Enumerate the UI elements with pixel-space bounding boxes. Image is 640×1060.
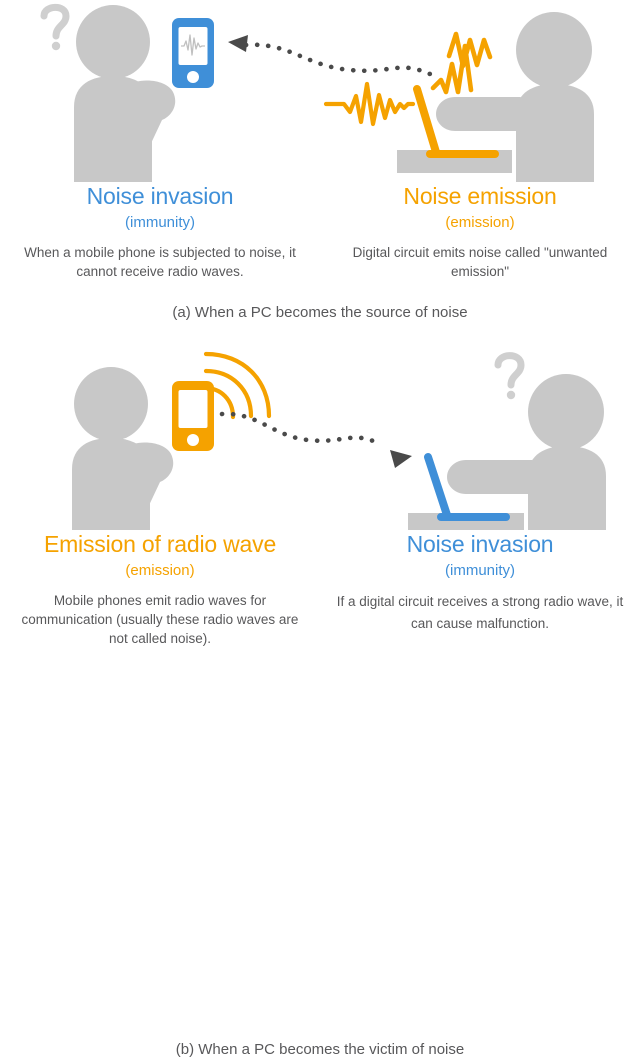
torso (528, 446, 606, 530)
person-at-laptop-b (408, 374, 606, 530)
question-mark-icon-a (44, 7, 66, 36)
caption-title: Noise emission (336, 182, 624, 210)
person-holding-phone-a (74, 5, 175, 182)
arrow-head (390, 450, 412, 468)
lightning-noise-icon (433, 34, 490, 92)
panel-a: Noise invasion (immunity) When a mobile … (0, 0, 640, 340)
torso (516, 84, 594, 182)
panel-b-label: (b) When a PC becomes the victim of nois… (0, 1040, 640, 1060)
head (528, 374, 604, 450)
caption-body: If a digital circuit receives a strong r… (336, 591, 624, 635)
noise-path-arrow-a (228, 35, 430, 74)
caption-title: Emission of radio wave (16, 530, 304, 558)
panel-b-captions: Emission of radio wave (emission) Mobile… (0, 530, 640, 648)
panel-a-captions: Noise invasion (immunity) When a mobile … (0, 182, 640, 281)
caption-subtitle: (immunity) (16, 212, 304, 234)
caption-subtitle: (emission) (16, 560, 304, 582)
head (76, 5, 150, 79)
caption-title: Noise invasion (16, 182, 304, 210)
noise-waveform-horizontal (326, 84, 413, 124)
caption-body: When a mobile phone is subjected to nois… (16, 243, 304, 281)
question-mark-icon-b (498, 356, 521, 385)
caption-noise-emission-a: Noise emission (emission) Digital circui… (320, 182, 640, 281)
arrow-head (228, 35, 248, 52)
caption-noise-invasion-b: Noise invasion (immunity) If a digital c… (320, 530, 640, 648)
head (516, 12, 592, 88)
panel-b: Emission of radio wave (emission) Mobile… (0, 340, 640, 722)
panel-a-illustration (0, 0, 640, 182)
caption-body: Digital circuit emits noise called "unwa… (336, 243, 624, 281)
head (74, 367, 148, 441)
panel-b-illustration (0, 340, 640, 530)
mobile-phone-orange (172, 381, 214, 451)
noise-path-arrow-b (222, 414, 412, 468)
radio-wave-arcs-icon (205, 354, 269, 417)
mobile-phone-blue (172, 18, 214, 88)
caption-noise-invasion-a: Noise invasion (immunity) When a mobile … (0, 182, 320, 281)
caption-title: Noise invasion (336, 530, 624, 558)
panel-a-label: (a) When a PC becomes the source of nois… (0, 303, 640, 323)
caption-subtitle: (immunity) (336, 560, 624, 582)
caption-subtitle: (emission) (336, 212, 624, 234)
caption-body: Mobile phones emit radio waves for commu… (16, 591, 304, 648)
caption-emission-radio-wave-b: Emission of radio wave (emission) Mobile… (0, 530, 320, 648)
question-mark-dot-a (52, 42, 60, 50)
person-holding-phone-b (72, 367, 173, 530)
question-mark-dot-b (507, 391, 515, 399)
